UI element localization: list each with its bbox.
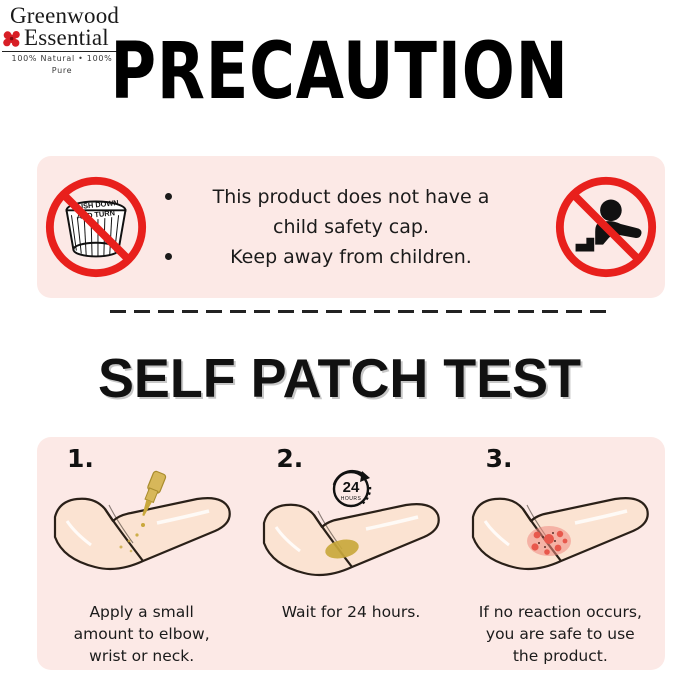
step-caption-3: If no reaction occurs, you are safe to u… xyxy=(462,601,659,667)
precaution-heading: PRECAUTION xyxy=(68,30,611,114)
self-patch-test-panel: 1. xyxy=(37,437,665,670)
patch-step-2: 2. 24 HOURS xyxy=(246,437,455,670)
step-caption-2: Wait for 24 hours. xyxy=(252,601,449,623)
step-caption-2-line-1: Wait for 24 hours. xyxy=(252,601,449,623)
patch-step-1: 1. xyxy=(37,437,246,670)
precaution-bullet-text-2: Keep away from children. xyxy=(230,246,472,268)
patch-step-3: 3. xyxy=(456,437,665,670)
step-caption-3-line-3: the product. xyxy=(462,645,659,667)
flower-icon xyxy=(2,29,22,49)
step-caption-1-line-1: Apply a small xyxy=(43,601,240,623)
precaution-bullet-1a: This product does not have a xyxy=(159,182,543,212)
bullet-dot-icon xyxy=(165,193,172,200)
precaution-bullet-1b: child safety cap. xyxy=(159,212,543,242)
no-child-safety-cap-icon: PUSH DOWN AND TURN xyxy=(37,173,155,281)
precaution-panel: PUSH DOWN AND TURN This product does not… xyxy=(37,156,665,298)
dashed-divider xyxy=(110,310,608,313)
brand-name-line1: Greenwood xyxy=(2,4,126,27)
step-caption-1: Apply a small amount to elbow, wrist or … xyxy=(43,601,240,667)
arm-with-rash-illustration xyxy=(465,465,655,583)
self-patch-test-heading: SELF PATCH TEST xyxy=(7,347,672,409)
svg-text:24: 24 xyxy=(343,479,360,496)
precaution-content-row: PUSH DOWN AND TURN This product does not… xyxy=(37,156,665,298)
step-caption-3-line-1: If no reaction occurs, xyxy=(462,601,659,623)
no-children-icon xyxy=(547,173,665,281)
step-caption-3-line-2: you are safe to use xyxy=(462,623,659,645)
precaution-bullet-2: Keep away from children. xyxy=(159,242,543,272)
arm-with-dropper-illustration xyxy=(47,465,237,583)
step-caption-1-line-3: wrist or neck. xyxy=(43,645,240,667)
precaution-bullet-list: This product does not have a child safet… xyxy=(155,182,547,272)
svg-text:HOURS: HOURS xyxy=(341,496,362,502)
24-hours-icon: 24 HOURS xyxy=(334,471,370,506)
arm-with-24-hours-clock-illustration: 24 HOURS xyxy=(256,465,446,583)
step-caption-1-line-2: amount to elbow, xyxy=(43,623,240,645)
precaution-bullet-text-1a: This product does not have a xyxy=(213,186,490,208)
precaution-bullet-text-1b: child safety cap. xyxy=(273,216,429,238)
bullet-dot-icon xyxy=(165,253,172,260)
patch-steps-row: 1. xyxy=(37,437,665,670)
